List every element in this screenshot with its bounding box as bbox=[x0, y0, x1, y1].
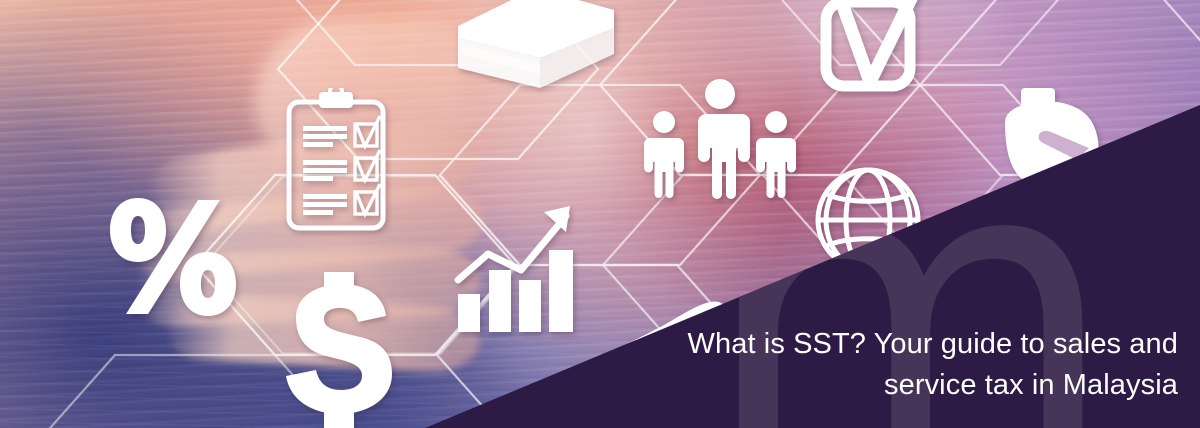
banner-headline: What is SST? Your guide to sales and ser… bbox=[538, 324, 1178, 406]
bar-chart-growth-icon bbox=[448, 196, 613, 336]
headline-line-2: service tax in Malaysia bbox=[538, 365, 1178, 406]
dollar-sign-icon bbox=[280, 272, 398, 428]
checkbox-checked-icon bbox=[812, 0, 932, 106]
family-group-icon bbox=[640, 78, 800, 200]
headline-line-1: What is SST? Your guide to sales and bbox=[538, 324, 1178, 365]
clipboard-checklist-icon bbox=[283, 88, 389, 234]
book-icon bbox=[440, 0, 620, 102]
sst-hero-banner: m What is SST? Your guide to sales and s… bbox=[0, 0, 1200, 428]
percent-icon bbox=[108, 196, 238, 321]
